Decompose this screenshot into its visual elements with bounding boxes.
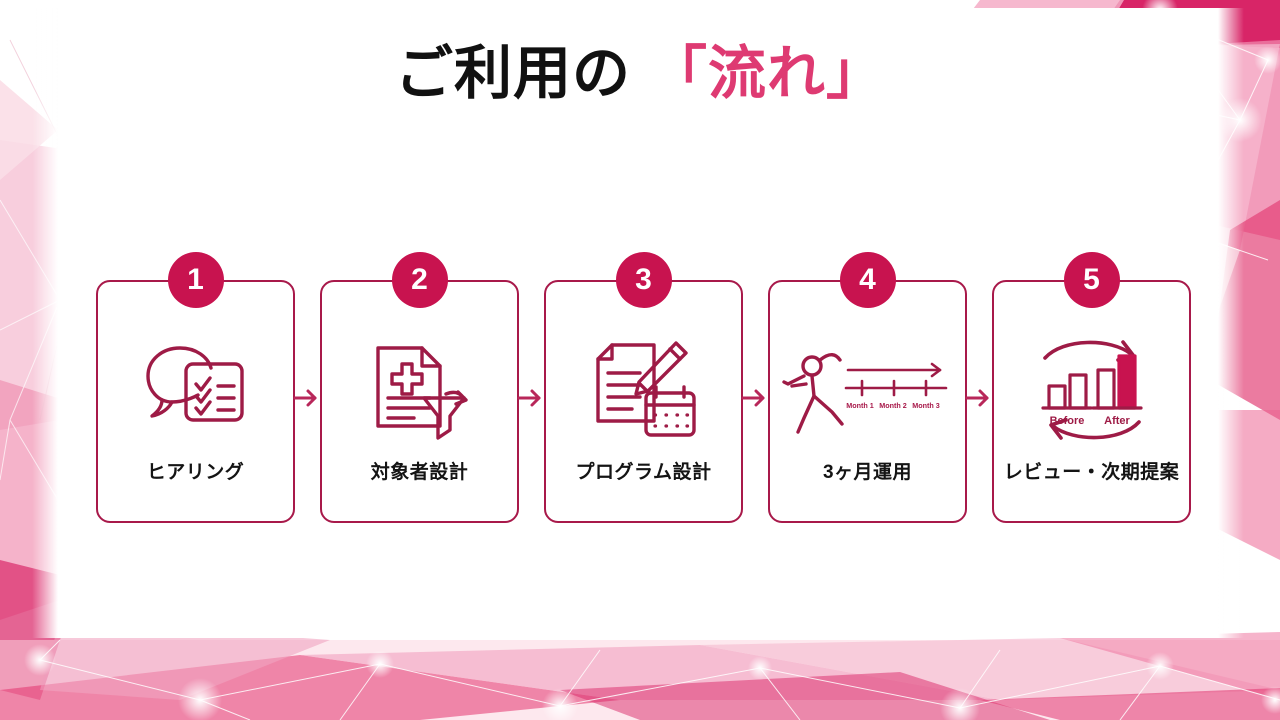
step-number-badge: 4: [840, 252, 896, 308]
arrow-right-icon: [741, 386, 771, 410]
step-number-badge: 5: [1064, 252, 1120, 308]
chart-label-after: After: [1104, 415, 1130, 427]
step-connector-2: [519, 252, 544, 504]
stretching-person-timeline-icon: Month 1 Month 2 Month 3: [782, 340, 954, 440]
step-label: 3ヶ月運用: [768, 457, 967, 484]
before-after-bar-chart-cycle-icon: Before After: [1027, 334, 1157, 446]
chart-label-before: Before: [1049, 415, 1084, 427]
speech-bubble-checklist-icon: [142, 340, 250, 440]
step-icon-container: Before After: [992, 330, 1191, 450]
process-step-4[interactable]: 4: [768, 252, 967, 504]
step-icon-container: Month 1 Month 2 Month 3: [768, 330, 967, 450]
timeline-label-month-2: Month 2: [879, 401, 907, 410]
step-icon-container: [320, 330, 519, 450]
step-label: プログラム設計: [544, 457, 743, 484]
process-step-2[interactable]: 2 対象者設計: [320, 252, 519, 504]
step-connector-4: [967, 252, 992, 504]
step-connector-1: [295, 252, 320, 504]
page-title-accent: 「流れ」: [649, 41, 885, 106]
process-step-1[interactable]: 1 ヒアリング: [96, 252, 295, 504]
arrow-right-icon: [517, 386, 547, 410]
step-icon-container: [96, 330, 295, 450]
timeline-label-month-1: Month 1: [846, 401, 874, 410]
page-title-primary: ご利用の: [395, 41, 631, 106]
page-title: ご利用の「流れ」: [0, 26, 1280, 110]
step-label: ヒアリング: [96, 457, 295, 484]
timeline-label-month-3: Month 3: [912, 401, 940, 410]
process-step-3[interactable]: 3: [544, 252, 743, 504]
document-pencil-calendar-icon: [590, 339, 698, 441]
medical-document-funnel-icon: [368, 340, 472, 440]
step-icon-container: [544, 330, 743, 450]
step-number-badge: 1: [168, 252, 224, 308]
step-number-badge: 2: [392, 252, 448, 308]
step-connector-3: [743, 252, 768, 504]
process-flow-steps: 1 ヒアリング: [96, 252, 1192, 532]
step-label: 対象者設計: [320, 457, 519, 484]
process-step-5[interactable]: 5: [992, 252, 1191, 504]
arrow-right-icon: [293, 386, 323, 410]
arrow-right-icon: [965, 386, 995, 410]
step-label: レビュー・次期提案: [992, 457, 1191, 484]
slide-canvas: ご利用の「流れ」 1: [0, 0, 1280, 720]
step-number-badge: 3: [616, 252, 672, 308]
